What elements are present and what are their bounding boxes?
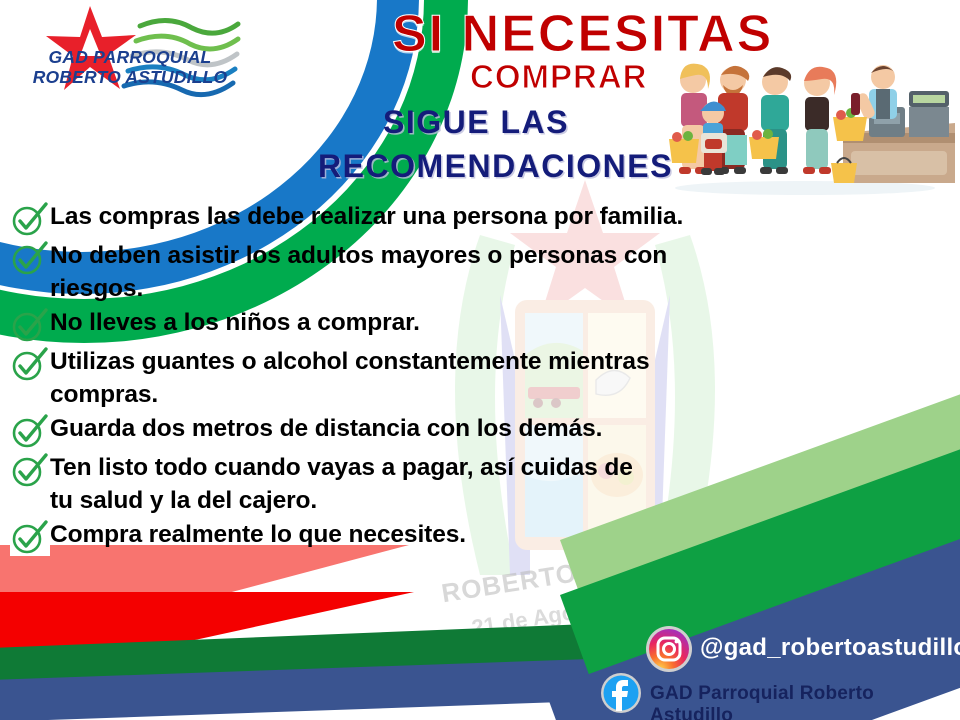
list-item-text: No lleves a los niños a comprar. [50, 306, 420, 339]
poster-canvas: ROBERTO ASTUDILLO 21 de Agosto GAD PARRO… [0, 0, 960, 720]
list-item-line1: Las compras las debe realizar una person… [50, 203, 683, 230]
green-check-circle-icon [10, 308, 50, 344]
green-check-circle-icon [10, 347, 50, 383]
green-check-circle-icon [10, 414, 50, 450]
list-item-text: Las compras las debe realizar una person… [50, 200, 683, 233]
logo-line-1: GAD PARROQUIAL [49, 47, 212, 67]
headline-line-2: COMPRAR [470, 58, 648, 96]
list-item: Utilizas guantes o alcohol constantement… [10, 345, 940, 411]
supermarket-shoppers-illustration [655, 55, 955, 200]
list-item-text: Guarda dos metros de distancia con los d… [50, 412, 602, 445]
headline-line-3: SIGUE LAS [383, 104, 569, 141]
list-item: No deben asistir los adultos mayores o p… [10, 239, 940, 305]
list-item-text: Utilizas guantes o alcohol constantement… [50, 345, 649, 411]
list-item: Compra realmente lo que necesites. [10, 518, 940, 556]
list-item-line1: Ten listo todo cuando vayas a pagar, así… [50, 454, 633, 481]
list-item: Las compras las debe realizar una person… [10, 200, 940, 238]
list-item-line2: tu salud y la del cajero. [50, 484, 633, 517]
green-check-circle-icon [10, 202, 50, 238]
list-item-line2: compras. [50, 378, 649, 411]
list-item-line1: Utilizas guantes o alcohol constantement… [50, 348, 649, 375]
headline-line-1: SI NECESITAS [392, 8, 773, 60]
list-item-text: No deben asistir los adultos mayores o p… [50, 239, 667, 305]
logo-text: GAD PARROQUIAL ROBERTO ASTUDILLO [30, 47, 230, 87]
instagram-handle[interactable]: @gad_robertoastudillo [700, 634, 960, 662]
green-check-circle-icon [10, 241, 50, 277]
list-item: No lleves a los niños a comprar. [10, 306, 940, 344]
list-item-text: Compra realmente lo que necesites. [50, 518, 466, 551]
list-item-line1: Guarda dos metros de distancia con los d… [50, 415, 602, 442]
instagram-icon[interactable] [645, 625, 693, 673]
green-check-circle-icon [10, 453, 50, 489]
headline-line-4: RECOMENDACIONES [318, 148, 673, 185]
logo-line-2: ROBERTO ASTUDILLO [33, 67, 228, 87]
list-item-text: Ten listo todo cuando vayas a pagar, así… [50, 451, 633, 517]
list-item: Guarda dos metros de distancia con los d… [10, 412, 940, 450]
facebook-icon[interactable] [600, 672, 642, 714]
list-item-line1: Compra realmente lo que necesites. [50, 521, 466, 548]
green-check-circle-icon [10, 520, 50, 556]
list-item-line1: No lleves a los niños a comprar. [50, 309, 420, 336]
facebook-page-name[interactable]: GAD Parroquial Roberto Astudillo [650, 683, 960, 720]
list-item-line1: No deben asistir los adultos mayores o p… [50, 242, 667, 269]
list-item-line2: riesgos. [50, 272, 667, 305]
